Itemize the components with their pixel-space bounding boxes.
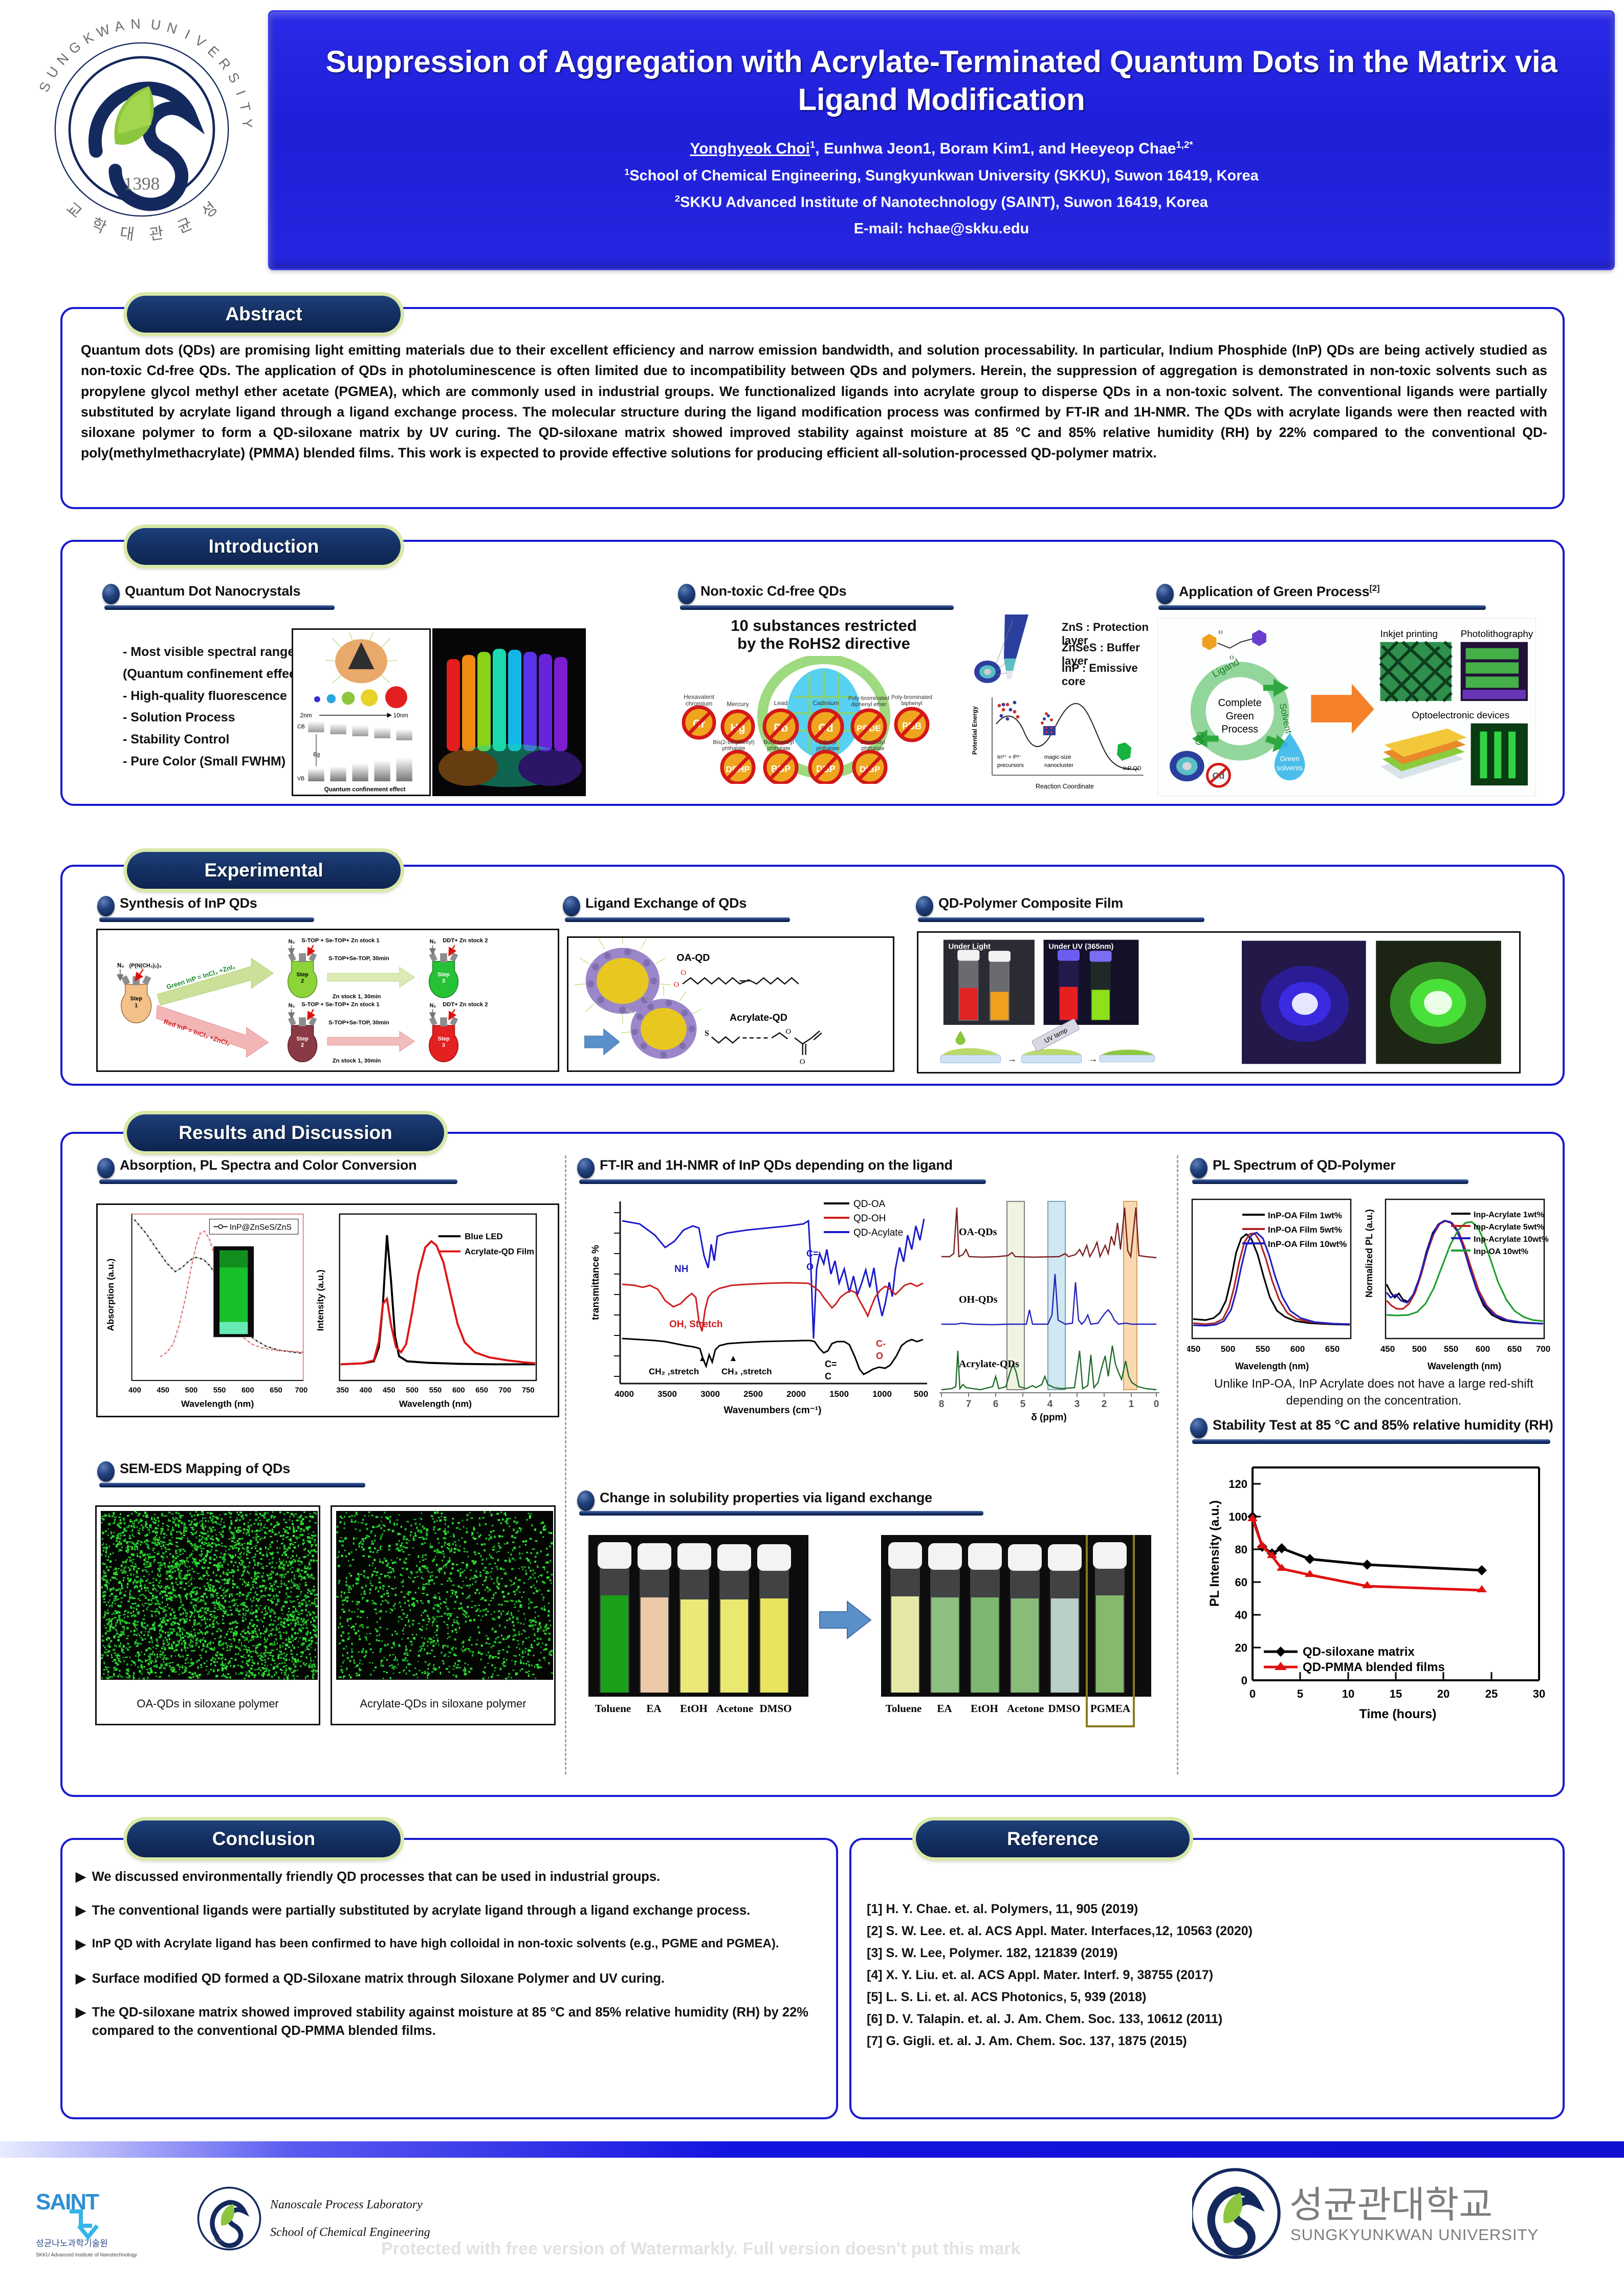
svg-text:600: 600 [452, 1387, 465, 1395]
svg-text:650: 650 [475, 1387, 488, 1395]
section-tab-abstract-label: Abstract [225, 303, 302, 325]
svg-text:O: O [674, 981, 679, 989]
svg-text:Step: Step [296, 1036, 309, 1042]
nmr-trace-oh-label: OH-QDs [959, 1294, 998, 1305]
subhead-qd-nanocrystals: Quantum Dot Nanocrystals [102, 583, 300, 604]
sem-eds-panel-left: OA-QDs in siloxane polymer [95, 1505, 320, 1725]
svg-text:Diisobutyl: Diisobutyl [861, 739, 885, 745]
ftir-chart: NH OH, Stretch CH₂ ,stretch CH₃ ,stretch… [583, 1192, 931, 1422]
pl-inp-oa-chart: InP-OA Film 1wt% InP-OA Film 5wt% InP-OA… [1187, 1192, 1361, 1387]
subhead-solubility-label: Change in solubility properties via liga… [600, 1490, 932, 1506]
pl-polymer-note-line1: Unlike InP-OA, InP Acrylate does not hav… [1197, 1375, 1550, 1392]
svg-text:S-TOP+Se-TOP, 30min: S-TOP+Se-TOP, 30min [328, 956, 389, 962]
ftir-x-axis-label: Wavenumbers (cm⁻¹) [724, 1405, 822, 1416]
list-item: ▶ The QD-siloxane matrix showed improved… [76, 2003, 825, 2040]
synthesis-scheme-figure: Step 1 N₂ (P(N(CH₃)₂)₃ Green InP = InCl₃… [96, 929, 559, 1072]
svg-text:500: 500 [406, 1387, 419, 1395]
sem-eds-image-acrylate [336, 1511, 553, 1680]
conclusion-list: ▶ We discussed environmentally friendly … [76, 1868, 825, 2045]
watermark-text: Protected with free version of Watermark… [381, 2239, 1302, 2259]
svg-text:N₂: N₂ [117, 962, 124, 969]
section-tab-reference-label: Reference [1007, 1828, 1099, 1850]
acrylate-qd-label: Acrylate-QD [730, 1012, 787, 1023]
legend-qd-pmma: QD-PMMA blended films [1303, 1660, 1445, 1674]
lab-line-1: Nanoscale Process Laboratory [270, 2198, 423, 2211]
saint-korean-text: 성균나노과학기술원 [36, 2239, 108, 2249]
subhead-underline [579, 1511, 983, 1516]
subhead-stability-label: Stability Test at 85 °C and 85% relative… [1213, 1417, 1553, 1433]
vial-label-dmso-left: DMSO [760, 1702, 792, 1715]
bullet-bead-icon [916, 896, 933, 916]
oa-qd-label: OA-QD [676, 952, 710, 963]
subhead-composite-film: QD-Polymer Composite Film [916, 895, 1123, 916]
vial-label-toluene-right: Toluene [886, 1702, 921, 1715]
legend-inp-oa-5wt: InP-OA Film 5wt% [1268, 1225, 1342, 1235]
bullet-bead-icon [102, 584, 120, 604]
subhead-underline [99, 1179, 457, 1184]
subhead-underline [680, 605, 954, 610]
green-process-ref: [2] [1370, 583, 1380, 593]
svg-text:solvents: solvents [1277, 763, 1303, 772]
subhead-stability: Stability Test at 85 °C and 85% relative… [1190, 1417, 1553, 1438]
affiliation-2-text: SKKU Advanced Institute of Nanotechnolog… [680, 194, 1208, 211]
corresponding-sup: 1,2* [1176, 139, 1193, 150]
svg-text:450: 450 [383, 1387, 396, 1395]
vial-label-ea-left: EA [646, 1702, 662, 1715]
subhead-qd-nanocrystals-label: Quantum Dot Nanocrystals [125, 583, 300, 599]
subhead-synthesis-label: Synthesis of InP QDs [120, 895, 257, 911]
saint-acronym-text: SAINT [36, 2189, 99, 2214]
lead-author: Yonghyeok Choi [690, 140, 809, 157]
affiliation-1-sup: 1 [624, 167, 629, 177]
subhead-synthesis: Synthesis of InP QDs [97, 895, 257, 916]
svg-text:U: U [150, 16, 163, 33]
subhead-green-process-label: Application of Green Process[2] [1179, 583, 1379, 600]
svg-text:Y: Y [239, 118, 255, 129]
legend-acrylate-10wt: Inp-Acrylate 10wt% [1474, 1235, 1549, 1244]
svg-text:Eg: Eg [313, 752, 320, 758]
annotation-nh: NH [674, 1264, 688, 1275]
list-item: [4] X. Y. Liu. et. al. ACS Appl. Mater. … [867, 1964, 1552, 1986]
triangle-bullet-icon: ▶ [76, 1969, 86, 1988]
bullet-bead-icon [1190, 1158, 1208, 1178]
svg-text:Green: Green [1280, 754, 1300, 762]
svg-text:diphenyl ether: diphenyl ether [851, 701, 886, 708]
subhead-cd-free-qds: Non-toxic Cd-free QDs [678, 583, 846, 604]
legend-acrylate-5wt: Inp-Acrylate 5wt% [1474, 1223, 1544, 1232]
svg-text:S-TOP + Se-TOP+ Zn stock 1: S-TOP + Se-TOP+ Zn stock 1 [301, 937, 380, 944]
bullet-bead-icon [1190, 1418, 1208, 1438]
under-light-label: Under Light [949, 942, 991, 951]
ligand-exchange-figure: OA-QD O O Acrylate-QD S [567, 936, 894, 1072]
svg-text:600: 600 [242, 1387, 254, 1395]
svg-text:550: 550 [213, 1387, 226, 1395]
legend-qd-oa: QD-OA [853, 1199, 886, 1210]
svg-text:(P(N(CH₃)₂)₃: (P(N(CH₃)₂)₃ [129, 962, 161, 969]
subhead-sem-eds: SEM-EDS Mapping of QDs [97, 1461, 290, 1482]
svg-text:S-TOP + Se-TOP+ Zn stock 1: S-TOP + Se-TOP+ Zn stock 1 [301, 1002, 380, 1008]
under-uv-label: Under UV (365nm) [1048, 942, 1113, 951]
annotation-ch2: CH₂ ,stretch [649, 1367, 699, 1376]
subhead-pl-polymer: PL Spectrum of QD-Polymer [1190, 1157, 1396, 1178]
svg-text:700: 700 [295, 1387, 308, 1395]
section-tab-results-label: Results and Discussion [179, 1122, 392, 1144]
svg-text:CB: CB [297, 723, 305, 730]
subhead-cd-free-qds-label: Non-toxic Cd-free QDs [700, 583, 846, 599]
lab-line-2: School of Chemical Engineering [270, 2226, 430, 2239]
affiliation-2: 2SKKU Advanced Institute of Nanotechnolo… [675, 193, 1208, 211]
annotation-c-double-c: C= [825, 1359, 837, 1369]
annotation-oh: OH, Stretch [669, 1319, 723, 1330]
svg-text:Step: Step [437, 972, 450, 978]
svg-text:Complete: Complete [1218, 697, 1262, 709]
composite-film-figure: Under Light Under UV (365nm) → → UV la [917, 931, 1521, 1073]
bullet-bead-icon [97, 896, 115, 916]
sem-eds-caption-oa: OA-QDs in siloxane polymer [97, 1697, 319, 1710]
svg-text:Mercury: Mercury [727, 700, 749, 708]
quantum-confinement-caption: Quantum confinement effect [324, 786, 406, 793]
svg-text:DDT+ Zn stock 2: DDT+ Zn stock 2 [443, 937, 488, 944]
triangle-bullet-icon: ▶ [76, 2003, 86, 2040]
svg-text:phthalate: phthalate [767, 745, 790, 752]
legend-qd-siloxane: QD-siloxane matrix [1303, 1645, 1415, 1659]
svg-text:S-TOP+Se-TOP, 30min: S-TOP+Se-TOP, 30min [328, 1020, 389, 1026]
svg-text:Bis(2-ethylhexyl): Bis(2-ethylhexyl) [713, 739, 754, 745]
sem-eds-panel-right: Acrylate-QDs in siloxane polymer [331, 1505, 556, 1725]
legend-inp-oa-10wt-green: Inp-OA 10wt% [1474, 1247, 1528, 1256]
annotation-c-double-o: C= [806, 1248, 819, 1259]
svg-text:N₂: N₂ [430, 1003, 436, 1009]
section-tab-conclusion: Conclusion [127, 1821, 401, 1857]
vial-label-ea-right: EA [937, 1702, 952, 1715]
rohs-title-line2: by the RoHS2 directive [681, 635, 967, 653]
subhead-underline [104, 605, 335, 610]
pl-acrylate-x-axis-label: Wavelength (nm) [1428, 1361, 1501, 1371]
saint-english-text: SKKU Advanced Institute of Nanotechnolog… [36, 2252, 137, 2258]
legend-qd-acylate: QD-Acylate [853, 1227, 903, 1238]
svg-text:Optoelectronic devices: Optoelectronic devices [1412, 710, 1509, 721]
subhead-ftir-nmr-label: FT-IR and 1H-NMR of InP QDs depending on… [600, 1157, 953, 1173]
skku-english-text: SUNGKYUNKWAN UNIVERSITY [1290, 2226, 1539, 2244]
svg-text:Butyl benzyl: Butyl benzyl [763, 739, 794, 745]
svg-text:Dibutyl: Dibutyl [819, 739, 837, 745]
list-item: ▶ InP QD with Acrylate ligand has been c… [76, 1935, 825, 1954]
size-max-label: 10nm [393, 712, 408, 719]
vial-label-toluene-left: Toluene [595, 1702, 631, 1715]
subhead-underline [579, 1179, 986, 1184]
subhead-underline [99, 1483, 365, 1487]
subhead-absorption-label: Absorption, PL Spectra and Color Convers… [120, 1157, 416, 1173]
section-tab-conclusion-label: Conclusion [212, 1828, 315, 1850]
svg-text:chromium: chromium [686, 700, 713, 707]
annotation-c-o: C- [876, 1339, 886, 1349]
subhead-green-process: Application of Green Process[2] [1156, 583, 1379, 604]
poster-header: 1398 S U N G K W A N U N I V E R S I T Y [0, 0, 1624, 279]
svg-text:Zn stock 1, 30min: Zn stock 1, 30min [333, 994, 381, 1000]
svg-text:biphenyl: biphenyl [902, 700, 923, 707]
rohs-graphic: 10 substances restricted by the RoHS2 di… [681, 614, 967, 793]
list-item: [2] S. W. Lee. et. al. ACS Appl. Mater. … [867, 1920, 1552, 1942]
subhead-ftir-nmr: FT-IR and 1H-NMR of InP QDs depending on… [577, 1157, 953, 1178]
abstract-panel: Quantum dots (QDs) are promising light e… [60, 307, 1565, 509]
seal-year: 1398 [124, 174, 160, 194]
pl-inp-acrylate-chart: Inp-Acrylate 1wt% Inp-Acrylate 5wt% Inp-… [1361, 1192, 1555, 1387]
abstract-text: Quantum dots (QDs) are promising light e… [81, 340, 1547, 464]
quantum-confinement-figure: 2nm 10nm CB VB Eg Quantum confinement ef… [292, 628, 431, 796]
x-axis-label-left: Wavelength (nm) [181, 1398, 254, 1409]
svg-text:Lead: Lead [774, 699, 788, 707]
sem-eds-image-oa [101, 1511, 318, 1680]
svg-text:Step: Step [130, 996, 143, 1002]
results-divider-1 [565, 1155, 566, 1774]
subhead-ligand-exchange-label: Ligand Exchange of QDs [585, 895, 747, 911]
sem-eds-caption-acrylate: Acrylate-QDs in siloxane polymer [332, 1697, 554, 1710]
nmr-trace-acrylate-label: Acrylate-QDs [959, 1358, 1019, 1370]
bullet-bead-icon [97, 1461, 115, 1482]
svg-text:Poly-brominated: Poly-brominated [891, 694, 932, 700]
list-item: [6] D. V. Talapin. et. al. J. Am. Chem. … [867, 2008, 1552, 2030]
subhead-underline [99, 917, 314, 922]
list-item: ▶ We discussed environmentally friendly … [76, 1868, 825, 1886]
list-item: ▶ The conventional ligands were partiall… [76, 1901, 825, 1920]
results-divider-2 [1177, 1155, 1178, 1774]
vial-label-acetone-right: Acetone [1007, 1702, 1044, 1715]
svg-text:2: 2 [301, 1042, 304, 1048]
svg-text:관: 관 [148, 224, 165, 244]
affiliation-1-text: School of Chemical Engineering, Sungkyun… [629, 167, 1259, 184]
shell-label-inp: InP : Emissive core [1062, 662, 1156, 688]
page-title: Suppression of Aggregation with Acrylate… [305, 43, 1577, 119]
subhead-underline [1192, 1439, 1550, 1444]
list-item: ▶ Surface modified QD formed a QD-Siloxa… [76, 1969, 825, 1988]
bullet-bead-icon [563, 896, 580, 916]
affiliation-2-sup: 2 [675, 193, 680, 204]
legend-inp-znses-zns: InP@ZnSeS/ZnS [230, 1223, 292, 1232]
other-authors: , Eunhwa Jeon1, Boram Kim1, and Heeyeop … [815, 140, 1176, 157]
list-item: [3] S. W. Lee, Polymer. 182, 121839 (201… [867, 1942, 1552, 1964]
vial-label-acetone-left: Acetone [716, 1702, 753, 1715]
svg-text:450: 450 [157, 1387, 169, 1395]
subhead-composite-film-label: QD-Polymer Composite Film [938, 895, 1123, 911]
svg-text:phthalate: phthalate [816, 745, 839, 752]
svg-text:1: 1 [135, 1003, 138, 1009]
affiliation-1: 1School of Chemical Engineering, Sungkyu… [624, 167, 1259, 185]
subhead-underline [565, 917, 790, 922]
triangle-bullet-icon: ▶ [76, 1868, 86, 1886]
list-item: [5] L. S. Li. et. al. ACS Photonics, 5, … [867, 1986, 1552, 2008]
absorption-pl-figure: InP@ZnSeS/ZnS 400450500 550600650 700 Wa… [96, 1203, 559, 1417]
legend-acrylate-qd-film: Acrylate-QD Film [465, 1247, 534, 1257]
svg-text:Potential Energy: Potential Energy [971, 706, 978, 755]
footer-divider-bar [0, 2140, 1624, 2158]
svg-text:2: 2 [301, 978, 304, 984]
legend-acrylate-1wt: Inp-Acrylate 1wt% [1474, 1211, 1544, 1219]
svg-text:Poly-brominated: Poly-brominated [848, 695, 889, 701]
section-tab-results: Results and Discussion [127, 1114, 444, 1151]
green-process-figure: O O Complete Green Process Ligand Solven… [1157, 618, 1536, 796]
skku-seal-logo: 1398 S U N G K W A N U N I V E R S I T Y [21, 9, 262, 250]
svg-text:400: 400 [360, 1387, 372, 1395]
legend-inp-oa-10wt: InP-OA Film 10wt% [1268, 1239, 1347, 1249]
skku-korean-text: 성균관대학교 [1289, 2183, 1493, 2226]
nmr-x-axis-label: δ (ppm) [1031, 1412, 1067, 1422]
subhead-sem-eds-label: SEM-EDS Mapping of QDs [120, 1461, 290, 1477]
svg-text:Cadmium: Cadmium [813, 699, 839, 707]
svg-text:phthalate: phthalate [722, 745, 745, 752]
svg-text:O: O [681, 969, 686, 977]
svg-text:N₂: N₂ [289, 938, 295, 945]
bullet-bead-icon [678, 584, 695, 604]
svg-text:400: 400 [128, 1387, 141, 1395]
reaction-coordinate-chart: Potential Energy Reaction Coordinate In³… [970, 693, 1149, 796]
svg-text:Step: Step [296, 972, 309, 978]
svg-text:Inkjet printing: Inkjet printing [1380, 629, 1438, 640]
svg-text:대: 대 [119, 224, 136, 244]
vial-label-etoh-right: EtOH [971, 1702, 998, 1715]
svg-text:Cd: Cd [1213, 771, 1225, 781]
bullet-bead-icon [97, 1158, 115, 1178]
section-tab-reference: Reference [916, 1821, 1190, 1857]
ftir-y-axis-label: transmittance % [590, 1245, 601, 1320]
svg-text:3: 3 [442, 1042, 445, 1048]
y-axis-label-right: Intensity (a.u.) [315, 1269, 325, 1331]
section-tab-experimental: Experimental [127, 852, 401, 889]
section-tab-introduction: Introduction [127, 528, 401, 565]
x-axis-label-right: Wavelength (nm) [399, 1398, 472, 1409]
size-min-label: 2nm [300, 712, 312, 719]
qd-shell-diagram: ZnS : Protection layer ZnSeS : Buffer la… [967, 611, 1156, 698]
svg-text:O: O [1218, 629, 1222, 635]
annotation-ch3: CH₃ ,stretch [721, 1367, 772, 1376]
svg-text:Hexavalent: Hexavalent [684, 693, 715, 700]
stability-chart: 02040 6080100 120 0510 152025 30 [1197, 1453, 1555, 1729]
contact-email: E-mail: hchae@skku.edu [854, 221, 1029, 237]
svg-text:Process: Process [1221, 724, 1258, 735]
skku-seal-icon: 1398 S U N G K W A N U N I V E R S I T Y [21, 9, 262, 250]
triangle-bullet-icon: ▶ [76, 1901, 86, 1920]
svg-text:Photolithography: Photolithography [1461, 629, 1533, 640]
svg-text:550: 550 [429, 1387, 442, 1395]
svg-text:S: S [705, 1029, 709, 1038]
svg-text:N₂: N₂ [430, 938, 436, 945]
saint-logo: SAINT 성균나노과학기술원 SKKU Advanced Institute … [32, 2185, 180, 2262]
svg-text:500: 500 [185, 1387, 198, 1395]
svg-text:DDT+ Zn stock 2: DDT+ Zn stock 2 [443, 1002, 488, 1008]
svg-text:→: → [1089, 1054, 1098, 1064]
bullet-bead-icon [577, 1490, 595, 1511]
svg-text:InP QD: InP QD [1123, 765, 1142, 772]
lead-author-sup: 1 [810, 139, 815, 150]
svg-text:N₂: N₂ [289, 1003, 295, 1009]
subhead-underline [1158, 605, 1486, 610]
section-tab-introduction-label: Introduction [209, 536, 319, 557]
svg-text:N: N [130, 16, 142, 32]
svg-text:nanocluster: nanocluster [1044, 762, 1073, 769]
stability-x-axis-label: Time (hours) [1359, 1707, 1437, 1721]
svg-text:Green: Green [1226, 711, 1254, 722]
bullet-bead-icon [577, 1158, 595, 1178]
reference-list: [1] H. Y. Chae. et. al. Polymers, 11, 90… [867, 1898, 1552, 2052]
qd-vials-photo [432, 628, 586, 796]
vial-label-pgmea-right: PGMEA [1090, 1702, 1131, 1715]
list-item: [7] G. Gigli. et. al. J. Am. Chem. Soc. … [867, 2030, 1552, 2052]
svg-text:O: O [800, 1058, 805, 1066]
vial-label-etoh-left: EtOH [680, 1702, 708, 1715]
svg-text:In³⁺ + P³⁻: In³⁺ + P³⁻ [997, 754, 1022, 760]
subhead-ligand-exchange: Ligand Exchange of QDs [563, 895, 747, 916]
subhead-underline [1192, 1179, 1468, 1184]
subhead-underline [918, 917, 1204, 922]
rohs-title-line1: 10 substances restricted [681, 617, 967, 635]
svg-text:Step: Step [437, 1036, 450, 1042]
svg-text:→: → [1007, 1054, 1017, 1064]
nmr-chart: OA-QDs OH-QDs Acrylate-QDs 876 543 210 δ… [931, 1192, 1172, 1422]
svg-text:phthalate: phthalate [861, 745, 884, 752]
subhead-solubility: Change in solubility properties via liga… [577, 1490, 932, 1511]
legend-inp-oa-1wt: InP-OA Film 1wt% [1268, 1211, 1342, 1220]
svg-text:3: 3 [442, 978, 445, 984]
svg-text:O: O [786, 1028, 792, 1036]
svg-text:Reaction Coordinate: Reaction Coordinate [1036, 783, 1094, 790]
svg-text:700: 700 [499, 1387, 512, 1395]
section-tab-abstract: Abstract [127, 296, 401, 333]
vial-label-dmso-right: DMSO [1048, 1702, 1081, 1715]
pl-polymer-note-line2: depending on the concentration. [1197, 1392, 1550, 1409]
svg-text:650: 650 [270, 1387, 282, 1395]
y-axis-label-left: Absorption (a.u.) [105, 1258, 116, 1331]
pl-acrylate-y-axis-label: Normalized PL (a.u.) [1364, 1209, 1374, 1298]
triangle-bullet-icon: ▶ [76, 1935, 86, 1954]
legend-blue-led: Blue LED [465, 1232, 502, 1241]
pl-polymer-note: Unlike InP-OA, InP Acrylate does not hav… [1197, 1375, 1550, 1409]
legend-qd-oh: QD-OH [853, 1213, 886, 1224]
svg-text:750: 750 [522, 1387, 535, 1395]
stability-y-axis-label: PL Intensity (a.u.) [1208, 1500, 1222, 1607]
svg-text:magic-size: magic-size [1044, 754, 1071, 760]
svg-text:precursors: precursors [997, 762, 1024, 769]
solubility-figure: Toluene EA EtOH Acetone DMSO Toluene EA … [588, 1535, 1151, 1729]
nmr-trace-oa-label: OA-QDs [959, 1226, 997, 1238]
title-banner: Suppression of Aggregation with Acrylate… [268, 10, 1615, 270]
svg-text:VB: VB [297, 776, 304, 782]
bullet-bead-icon [1156, 584, 1174, 604]
author-list: Yonghyeok Choi1, Eunhwa Jeon1, Boram Kim… [690, 139, 1193, 158]
list-item: [1] H. Y. Chae. et. al. Polymers, 11, 90… [867, 1898, 1552, 1920]
pl-oa-x-axis-label: Wavelength (nm) [1235, 1361, 1309, 1371]
subhead-pl-polymer-label: PL Spectrum of QD-Polymer [1213, 1157, 1396, 1173]
svg-text:350: 350 [336, 1387, 349, 1395]
svg-text:Zn stock 1, 30min: Zn stock 1, 30min [333, 1058, 381, 1064]
subhead-absorption: Absorption, PL Spectra and Color Convers… [97, 1157, 416, 1178]
section-tab-experimental-label: Experimental [204, 860, 323, 881]
